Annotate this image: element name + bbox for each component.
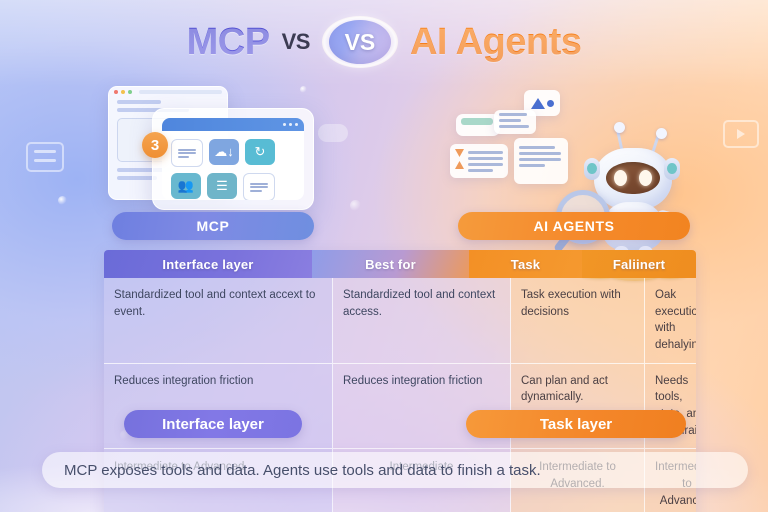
window-content: ☁↓ ↻ 👥 ☰ (162, 118, 304, 200)
sync-icon: ↻ (245, 139, 275, 165)
share-icon: 👥 (171, 173, 201, 199)
vs-badge: VS (322, 16, 398, 68)
pill-mcp[interactable]: MCP (112, 212, 314, 240)
table-cell: Standardized tool and context access. (333, 278, 511, 364)
list-card (450, 144, 508, 178)
ai-robot-mascot: ❤ (572, 128, 692, 268)
pill-ai-agents[interactable]: AI AGENTS (458, 212, 690, 240)
document-icon (171, 139, 203, 167)
cloud-download-icon: ☁↓ (209, 139, 239, 165)
table-cell: Oak execution with dehalying. (645, 278, 696, 364)
pill-interface-layer[interactable]: Interface layer (124, 410, 302, 438)
notification-badge: 3 (142, 132, 168, 158)
chat-bubble-icon (26, 142, 64, 172)
infographic-canvas: MCP VS VS AI Agents (0, 0, 768, 512)
table-row: Standardized tool and context accext to … (104, 278, 696, 364)
icon-grid: ☁↓ ↻ 👥 ☰ (162, 131, 304, 200)
table-cell: Standardized tool and context accext to … (104, 278, 333, 364)
pill-task-layer[interactable]: Task layer (466, 410, 686, 438)
document-icon (243, 173, 275, 200)
title-vs-word: VS (282, 29, 310, 55)
document-card (514, 138, 568, 184)
robot-ear-left (584, 158, 600, 180)
person-dot-icon (547, 100, 554, 107)
antenna-ball-left (614, 122, 625, 133)
robot-eye-left (614, 170, 627, 186)
footer-banner: MCP exposes tools and data. Agents use t… (42, 452, 748, 488)
text-lines-card (494, 110, 536, 134)
text-lines-icon: ☰ (207, 173, 237, 199)
column-header-faliinert: Faliinert (582, 250, 696, 278)
table-header-row: Interface layer Best for Task Faliinert (104, 250, 696, 278)
browser-window-front: ☁↓ ↻ 👥 ☰ (152, 108, 314, 210)
page-title: MCP VS VS AI Agents (0, 14, 768, 70)
mcp-illustration: ☁↓ ↻ 👥 ☰ 3 (104, 82, 320, 208)
cloud-icon (318, 124, 348, 142)
footer-text: MCP exposes tools and data. Agents use t… (64, 462, 541, 479)
antenna-ball-right (656, 128, 667, 139)
title-mcp: MCP (187, 21, 270, 64)
column-header-task: Task (469, 250, 582, 278)
bokeh-dot (350, 200, 361, 211)
robot-eye-right (639, 170, 652, 186)
robot-head (594, 148, 672, 210)
robot-ear-right (664, 158, 680, 180)
bokeh-dot (58, 196, 67, 205)
table-cell: Task execution with decisions (511, 278, 645, 364)
agents-illustration: ❤ (440, 72, 740, 212)
window-titlebar (109, 87, 227, 96)
vs-badge-label: VS (345, 29, 376, 56)
column-header-interface-layer: Interface layer (104, 250, 312, 278)
column-header-best-for: Best for (312, 250, 469, 278)
robot-visor (606, 162, 660, 194)
window-titlebar (162, 118, 304, 131)
mountain-icon (531, 98, 545, 109)
title-ai-agents: AI Agents (410, 21, 581, 64)
